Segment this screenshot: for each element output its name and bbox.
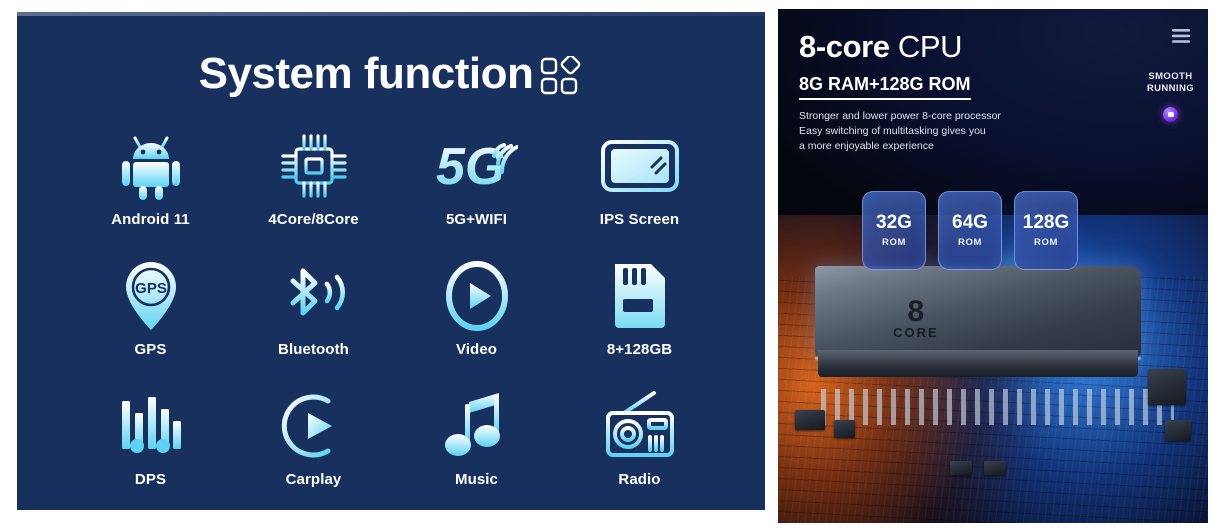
rom-capacity: 64G (952, 213, 988, 232)
hamburger-menu-icon[interactable] (1172, 29, 1190, 43)
gps-pin-icon: GPS (120, 260, 182, 332)
rom-unit: ROM (882, 237, 906, 248)
cpu-headline-block: 8-core CPU 8G RAM+128G ROM Stronger and … (799, 31, 1099, 154)
equalizer-icon (116, 390, 186, 462)
smooth-running-badge: SMOOTH RUNNING (1147, 71, 1194, 95)
cpu-feature-panel: 8 CORE 8-core CPU 8G RAM+128G ROM Strong… (778, 9, 1208, 523)
rom-option-128g[interactable]: 128G ROM (1014, 191, 1078, 270)
rom-option-64g[interactable]: 64G ROM (938, 191, 1002, 270)
feature-label: 4Core/8Core (268, 211, 358, 228)
cpu-description: Stronger and lower power 8-core processo… (799, 109, 1099, 155)
rom-options-row: 32G ROM 64G ROM 128G ROM (862, 191, 1078, 270)
chip-core-word: CORE (893, 325, 939, 340)
capsule-dot-icon (1163, 107, 1178, 122)
feature-item-storage[interactable]: 8+128GB (558, 260, 721, 378)
feature-label: 8+128GB (607, 341, 672, 358)
feature-label: Bluetooth (278, 341, 349, 358)
feature-label: Radio (618, 471, 660, 488)
cpu-chip-icon (281, 130, 347, 202)
feature-item-android[interactable]: Android 11 (69, 130, 232, 248)
memory-subtitle: 8G RAM+128G ROM (799, 74, 971, 100)
feature-item-gps[interactable]: GPS GPS (69, 260, 232, 378)
screen-icon (600, 130, 680, 202)
chip-core-count: 8 (908, 298, 925, 325)
feature-label: 5G+WIFI (446, 211, 507, 228)
feature-item-5g-wifi[interactable]: 5G 5G+WIFI (395, 130, 558, 248)
rom-option-32g[interactable]: 32G ROM (862, 191, 926, 270)
feature-item-radio[interactable]: Radio (558, 390, 721, 508)
chip-marking: 8 CORE (867, 276, 965, 362)
feature-label: Video (456, 341, 497, 358)
play-circle-icon (444, 260, 510, 332)
feature-label: DPS (135, 471, 166, 488)
feature-item-cpu[interactable]: 4Core/8Core (232, 130, 395, 248)
sd-card-icon (609, 260, 671, 332)
radio-icon (602, 390, 678, 462)
system-function-panel: System function (17, 12, 765, 510)
svg-text:GPS: GPS (135, 280, 167, 297)
feature-item-music[interactable]: Music (395, 390, 558, 508)
app-grid-icon (539, 56, 583, 96)
feature-label: GPS (135, 341, 167, 358)
cpu-chip-illustration: 8 CORE (815, 266, 1142, 389)
rom-unit: ROM (1034, 237, 1058, 248)
carplay-icon (280, 390, 348, 462)
rom-capacity: 32G (876, 213, 912, 232)
android-icon (118, 130, 184, 202)
5g-wifi-icon: 5G (436, 130, 518, 202)
svg-text:5G: 5G (436, 138, 505, 196)
cpu-title-strong: 8-core (799, 29, 890, 64)
feature-label: Android 11 (111, 211, 190, 228)
chip-pins (821, 389, 1174, 425)
cpu-title-light: CPU (890, 29, 962, 64)
rom-unit: ROM (958, 237, 982, 248)
feature-label: Carplay (286, 471, 342, 488)
feature-item-bluetooth[interactable]: Bluetooth (232, 260, 395, 378)
cpu-title: 8-core CPU (799, 31, 1099, 64)
feature-item-video[interactable]: Video (395, 260, 558, 378)
feature-label: IPS Screen (600, 211, 679, 228)
feature-item-dps[interactable]: DPS (69, 390, 232, 508)
rom-capacity: 128G (1023, 213, 1069, 232)
music-note-icon (445, 390, 509, 462)
page-title: System function (199, 52, 534, 96)
panel-title-row: System function (17, 52, 765, 96)
feature-item-carplay[interactable]: Carplay (232, 390, 395, 508)
promo-banner: System function (0, 0, 1214, 532)
bluetooth-icon (277, 260, 351, 332)
feature-grid: Android 11 (17, 130, 765, 508)
feature-item-ips-screen[interactable]: IPS Screen (558, 130, 721, 248)
feature-label: Music (455, 471, 498, 488)
